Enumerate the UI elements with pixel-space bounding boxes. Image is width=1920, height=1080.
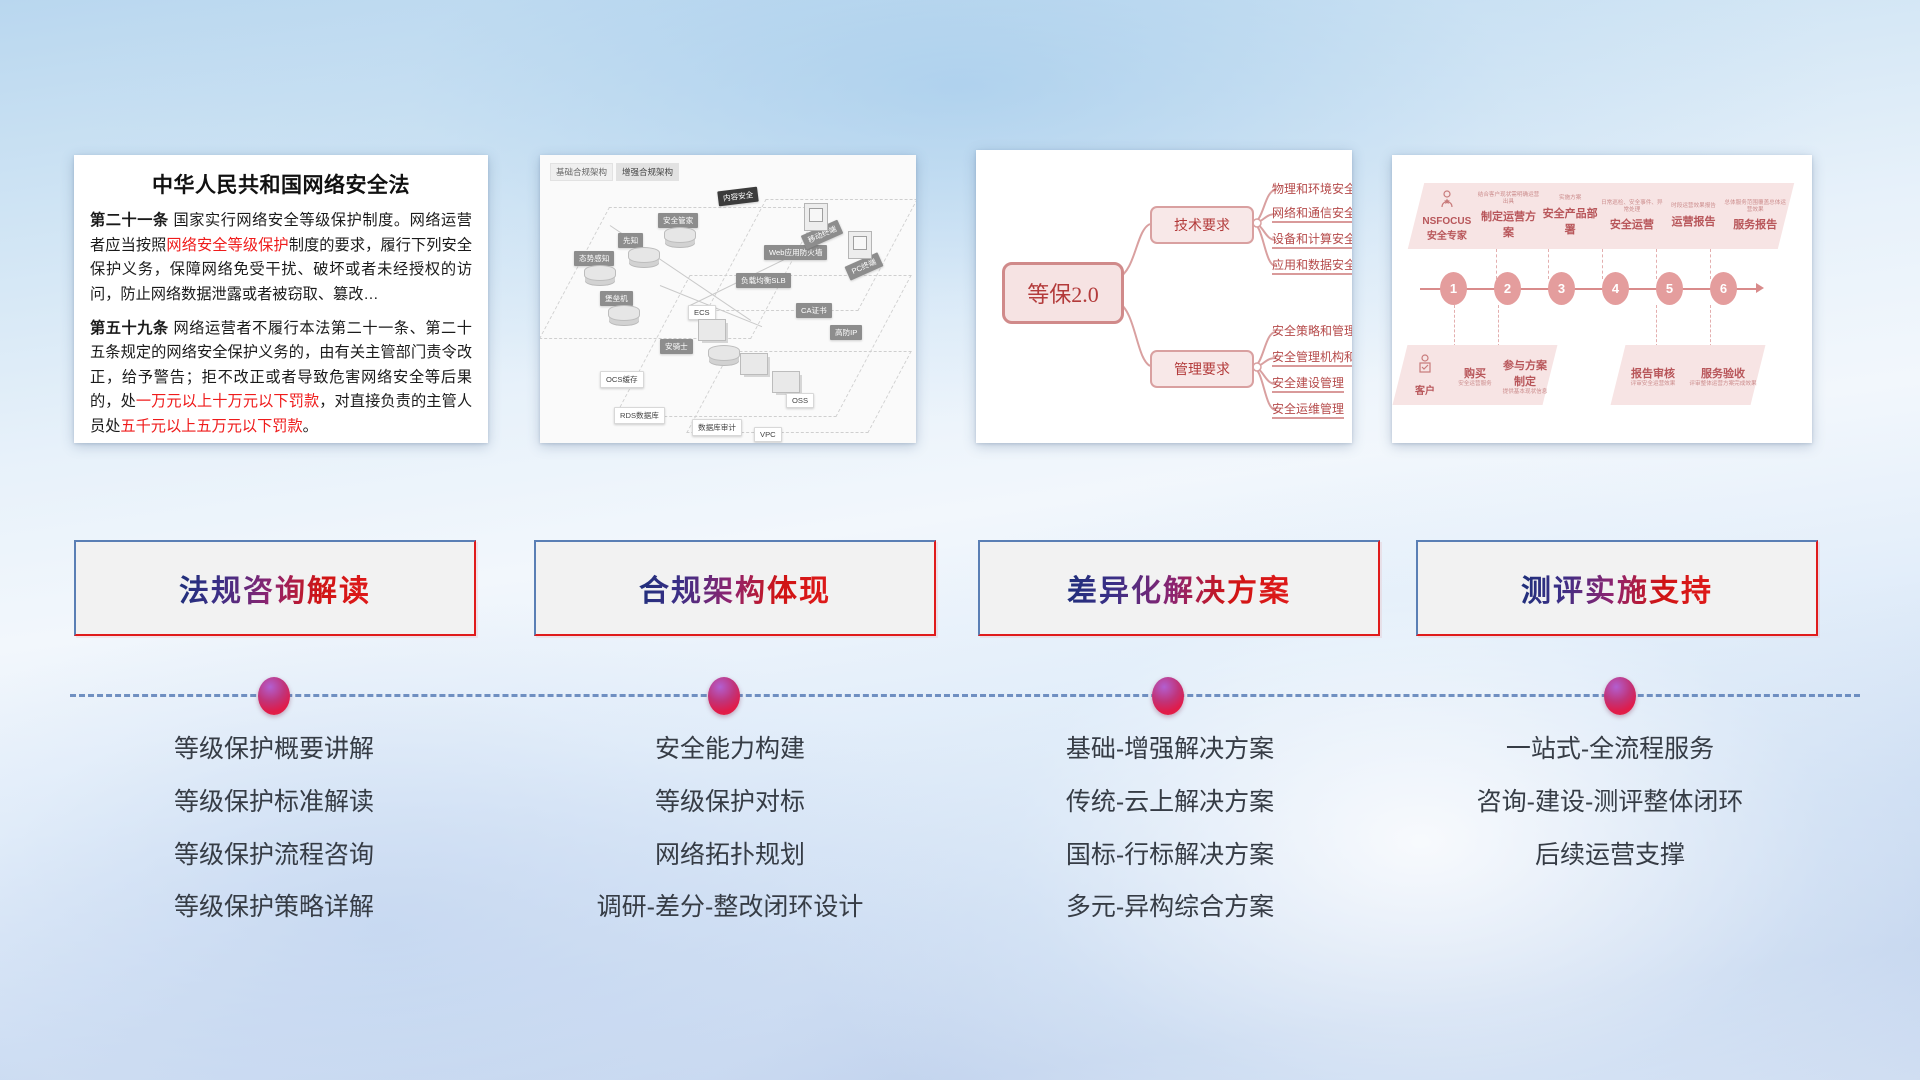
list-item: 咨询-建设-测评整体闭环 — [1400, 788, 1820, 817]
arch-node-chip: OSS — [786, 393, 814, 408]
arch-node-shape — [708, 345, 740, 361]
law-paragraph: 第二十一条 国家实行网络安全等级保护制度。网络运营者应当按照网络安全等级保护制度… — [90, 209, 472, 308]
arch-node-shape — [608, 305, 640, 321]
expert-icon — [1439, 190, 1455, 208]
banner-assessment-support[interactable]: 测评实施支持 — [1416, 540, 1818, 636]
law-highlight-segment: 一万元以上十万元以下罚款 — [136, 393, 319, 410]
step-subtitle: 实施方案 — [1539, 195, 1601, 201]
law-highlight-segment: 五千元以上五万元以下罚款 — [120, 418, 302, 435]
banner-compliance-architecture[interactable]: 合规架构体现 — [534, 540, 936, 636]
arch-node-chip: 安全管家 — [658, 213, 698, 228]
law-card-title: 中华人民共和国网络安全法 — [74, 169, 488, 199]
arch-node-chip: CA证书 — [796, 303, 832, 318]
step-title: 安全产品部署 — [1539, 205, 1601, 237]
list-item: 基础-增强解决方案 — [960, 735, 1380, 764]
arch-node-chip: 负载均衡SLB — [736, 273, 791, 288]
mindmap-leaf: 设备和计算安全 — [1272, 230, 1352, 249]
architecture-canvas: 基础合规架构 增强合规架构 内容安全 安全管家 先知 态势感知 堡垒机 — [540, 155, 916, 443]
detail-column-row: 等级保护概要讲解 等级保护标准解读 等级保护流程咨询 等级保护策略详解 安全能力… — [0, 735, 1920, 1025]
banner-row: 法规咨询解读 合规架构体现 差异化解决方案 测评实施支持 — [0, 540, 1920, 650]
arch-node-shape — [698, 319, 726, 341]
tab-basic-architecture[interactable]: 基础合规架构 — [550, 163, 613, 181]
detail-column-1: 等级保护概要讲解 等级保护标准解读 等级保护流程咨询 等级保护策略详解 — [64, 735, 484, 946]
timeline-connector — [1656, 249, 1658, 279]
list-item: 等级保护标准解读 — [64, 788, 484, 817]
detail-column-3: 基础-增强解决方案 传统-云上解决方案 国标-行标解决方案 多元-异构综合方案 — [960, 735, 1380, 946]
list-item: 国标-行标解决方案 — [960, 841, 1380, 870]
step-title: 购买 — [1450, 365, 1500, 381]
detail-column-4: 一站式-全流程服务 咨询-建设-测评整体闭环 后续运营支撑 — [1400, 735, 1820, 893]
mindmap-branch-management[interactable]: 管理要求 — [1150, 350, 1254, 388]
law-paragraph: 第五十九条 网络运营者不履行本法第二十一条、第二十五条规定的网络安全保护义务的，… — [90, 317, 472, 440]
step-title: 制定运营方案 — [1478, 208, 1540, 240]
timeline-node-6[interactable]: 6 — [1710, 272, 1737, 305]
timeline-step-top: 时段运营效果报告 运营报告 — [1663, 203, 1725, 228]
banner-label: 法规咨询解读 — [179, 566, 371, 610]
step-title: 参与方案制定 — [1500, 357, 1550, 389]
arch-node-shape — [804, 203, 828, 231]
timeline-marker-3[interactable] — [1152, 677, 1184, 715]
arch-node-chip: OCS缓存 — [600, 371, 644, 388]
mindmap-root-node[interactable]: 等保2.0 — [1002, 262, 1124, 324]
timeline-connector — [1548, 249, 1550, 279]
timeline-connector — [1710, 249, 1712, 279]
arch-node-chip: 内容安全 — [717, 187, 759, 207]
expert-name-line2: 安全专家 — [1416, 227, 1478, 242]
arch-node-chip: 先知 — [618, 233, 643, 248]
step-title: 运营报告 — [1663, 213, 1725, 229]
step-title: 服务验收 — [1688, 365, 1758, 381]
architecture-diagram-card[interactable]: 基础合规架构 增强合规架构 内容安全 安全管家 先知 态势感知 堡垒机 — [540, 155, 916, 443]
timeline-axis — [1420, 288, 1760, 290]
timeline-step-top: 实施方案 安全产品部署 — [1539, 195, 1601, 236]
law-article-label: 第二十一条 — [90, 212, 169, 229]
customer-name: 客户 — [1400, 382, 1450, 397]
tab-enhanced-architecture[interactable]: 增强合规架构 — [616, 163, 679, 181]
arch-node-chip: 数据库审计 — [692, 419, 742, 436]
process-timeline-line — [70, 694, 1860, 701]
step-subtitle: 时段运营效果报告 — [1663, 203, 1725, 209]
timeline-step-top: 结合客户现状需明确运营出具 制定运营方案 — [1478, 192, 1540, 239]
timeline-marker-1[interactable] — [258, 677, 290, 715]
mindmap-leaf: 安全运维管理 — [1272, 400, 1344, 419]
customer-icon — [1418, 354, 1432, 374]
timeline-node-2[interactable]: 2 — [1494, 272, 1521, 305]
timeline-connector — [1496, 249, 1498, 279]
arch-node-chip: ECS — [688, 305, 716, 320]
step-title: 报告审核 — [1618, 365, 1688, 381]
mindmap-leaf: 安全策略和管理制度 — [1272, 322, 1352, 341]
mindmap-branch-technical[interactable]: 技术要求 — [1150, 206, 1254, 244]
timeline-arrow-icon — [1756, 283, 1764, 293]
detail-column-2: 安全能力构建 等级保护对标 网络拓扑规划 调研-差分-整改闭环设计 — [520, 735, 940, 946]
arch-node-chip: 态势感知 — [574, 251, 614, 266]
architecture-tabs[interactable]: 基础合规架构 增强合规架构 — [550, 163, 679, 181]
timeline-connector — [1656, 305, 1658, 347]
arch-node-shape — [584, 265, 616, 281]
timeline-node-4[interactable]: 4 — [1602, 272, 1629, 305]
timeline-step-bottom: 参与方案制定 提供基本现状信息 — [1500, 354, 1550, 395]
timeline-step-top: 总体服务范围覆盖总体运营效果 服务报告 — [1724, 200, 1786, 231]
expert-name-line1: NSFOCUS — [1416, 216, 1478, 227]
arch-node-shape — [628, 247, 660, 263]
list-item: 一站式-全流程服务 — [1400, 735, 1820, 764]
arch-node-shape — [664, 227, 696, 243]
timeline-node-5[interactable]: 5 — [1656, 272, 1683, 305]
mindmap-leaf: 物理和环境安全 — [1272, 180, 1352, 199]
timeline-step-bottom: 报告审核 评审安全运营效果 — [1618, 362, 1688, 387]
list-item: 等级保护概要讲解 — [64, 735, 484, 764]
timeline-marker-2[interactable] — [708, 677, 740, 715]
mindmap-canvas: 等保2.0 技术要求 管理要求 物理和环境安全 网络和通信安全 设备和计算安全 … — [976, 150, 1352, 443]
customer-swimlane-left: 客户 购买 安全运营服务 参与方案制定 提供基本现状信息 — [1393, 345, 1558, 405]
arch-node-chip: Web应用防火墙 — [764, 245, 827, 260]
timeline-connector — [1498, 305, 1500, 347]
service-timeline-canvas: NSFOCUS 安全专家 结合客户现状需明确运营出具 制定运营方案 实施方案 安… — [1392, 155, 1812, 443]
list-item: 调研-差分-整改闭环设计 — [520, 893, 940, 922]
timeline-connector — [1454, 305, 1456, 347]
timeline-step-bottom: 购买 安全运营服务 — [1450, 362, 1500, 387]
arch-node-chip: RDS数据库 — [614, 407, 665, 424]
arch-node-shape — [772, 371, 800, 393]
timeline-step-bottom: 服务验收 评审整体运营方案完成效果 — [1688, 362, 1758, 387]
service-timeline-card[interactable]: NSFOCUS 安全专家 结合客户现状需明确运营出具 制定运营方案 实施方案 安… — [1392, 155, 1812, 443]
step-subtitle: 安全运营服务 — [1450, 381, 1500, 387]
list-item: 传统-云上解决方案 — [960, 788, 1380, 817]
list-item: 等级保护策略详解 — [64, 893, 484, 922]
mindmap-leaf: 应用和数据安全 — [1272, 256, 1352, 275]
step-subtitle: 日常巡检、安全事件、异常处理 — [1601, 200, 1663, 212]
expert-actor: NSFOCUS 安全专家 — [1416, 190, 1478, 242]
law-article-label: 第五十九条 — [90, 320, 169, 337]
list-item: 后续运营支撑 — [1400, 841, 1820, 870]
arch-node-chip: VPC — [754, 427, 782, 442]
law-text-card[interactable]: 中华人民共和国网络安全法 第二十一条 国家实行网络安全等级保护制度。网络运营者应… — [74, 155, 488, 443]
step-subtitle: 评审整体运营方案完成效果 — [1688, 381, 1758, 387]
step-subtitle: 评审安全运营效果 — [1618, 381, 1688, 387]
step-subtitle: 提供基本现状信息 — [1500, 389, 1550, 395]
timeline-step-top: 日常巡检、安全事件、异常处理 安全运营 — [1601, 200, 1663, 231]
mindmap-card[interactable]: 等保2.0 技术要求 管理要求 物理和环境安全 网络和通信安全 设备和计算安全 … — [976, 150, 1352, 443]
thumbnail-card-row: 中华人民共和国网络安全法 第二十一条 国家实行网络安全等级保护制度。网络运营者应… — [0, 0, 1920, 450]
list-item: 等级保护流程咨询 — [64, 841, 484, 870]
list-item: 等级保护对标 — [520, 788, 940, 817]
timeline-connector — [1710, 305, 1712, 347]
arch-node-chip: 高防IP — [830, 325, 862, 340]
step-title: 安全运营 — [1601, 216, 1663, 232]
timeline-marker-4[interactable] — [1604, 677, 1636, 715]
mindmap-leaf: 网络和通信安全 — [1272, 204, 1352, 223]
step-subtitle: 结合客户现状需明确运营出具 — [1478, 192, 1540, 204]
timeline-node-1[interactable]: 1 — [1440, 272, 1467, 305]
banner-label: 差异化解决方案 — [1067, 566, 1291, 610]
banner-differentiated-solution[interactable]: 差异化解决方案 — [978, 540, 1380, 636]
banner-regulation-consulting[interactable]: 法规咨询解读 — [74, 540, 476, 636]
step-title: 服务报告 — [1724, 216, 1786, 232]
arch-node-chip: 安骑士 — [660, 339, 693, 354]
law-card-body: 第二十一条 国家实行网络安全等级保护制度。网络运营者应当按照网络安全等级保护制度… — [74, 209, 488, 440]
mindmap-leaf: 安全管理机构和人员 — [1272, 348, 1352, 367]
list-item: 网络拓扑规划 — [520, 841, 940, 870]
law-highlight-segment: 网络安全等级保护 — [166, 237, 288, 254]
arch-node-chip: 堡垒机 — [600, 291, 633, 306]
slide-canvas: 中华人民共和国网络安全法 第二十一条 国家实行网络安全等级保护制度。网络运营者应… — [0, 0, 1920, 1080]
list-item: 安全能力构建 — [520, 735, 940, 764]
timeline-node-3[interactable]: 3 — [1548, 272, 1575, 305]
banner-label: 测评实施支持 — [1521, 566, 1713, 610]
banner-label: 合规架构体现 — [639, 566, 831, 610]
timeline-connector — [1602, 249, 1604, 279]
expert-swimlane: NSFOCUS 安全专家 结合客户现状需明确运营出具 制定运营方案 实施方案 安… — [1408, 183, 1794, 249]
mindmap-leaf: 安全建设管理 — [1272, 374, 1344, 393]
step-subtitle: 总体服务范围覆盖总体运营效果 — [1724, 200, 1786, 212]
customer-actor: 客户 — [1400, 354, 1450, 397]
customer-swimlane-right: 报告审核 评审安全运营效果 服务验收 评审整体运营方案完成效果 — [1611, 345, 1766, 405]
arch-node-shape — [740, 353, 768, 375]
list-item: 多元-异构综合方案 — [960, 893, 1380, 922]
arch-node-shape — [848, 231, 872, 259]
law-text-segment: 。 — [303, 418, 318, 435]
